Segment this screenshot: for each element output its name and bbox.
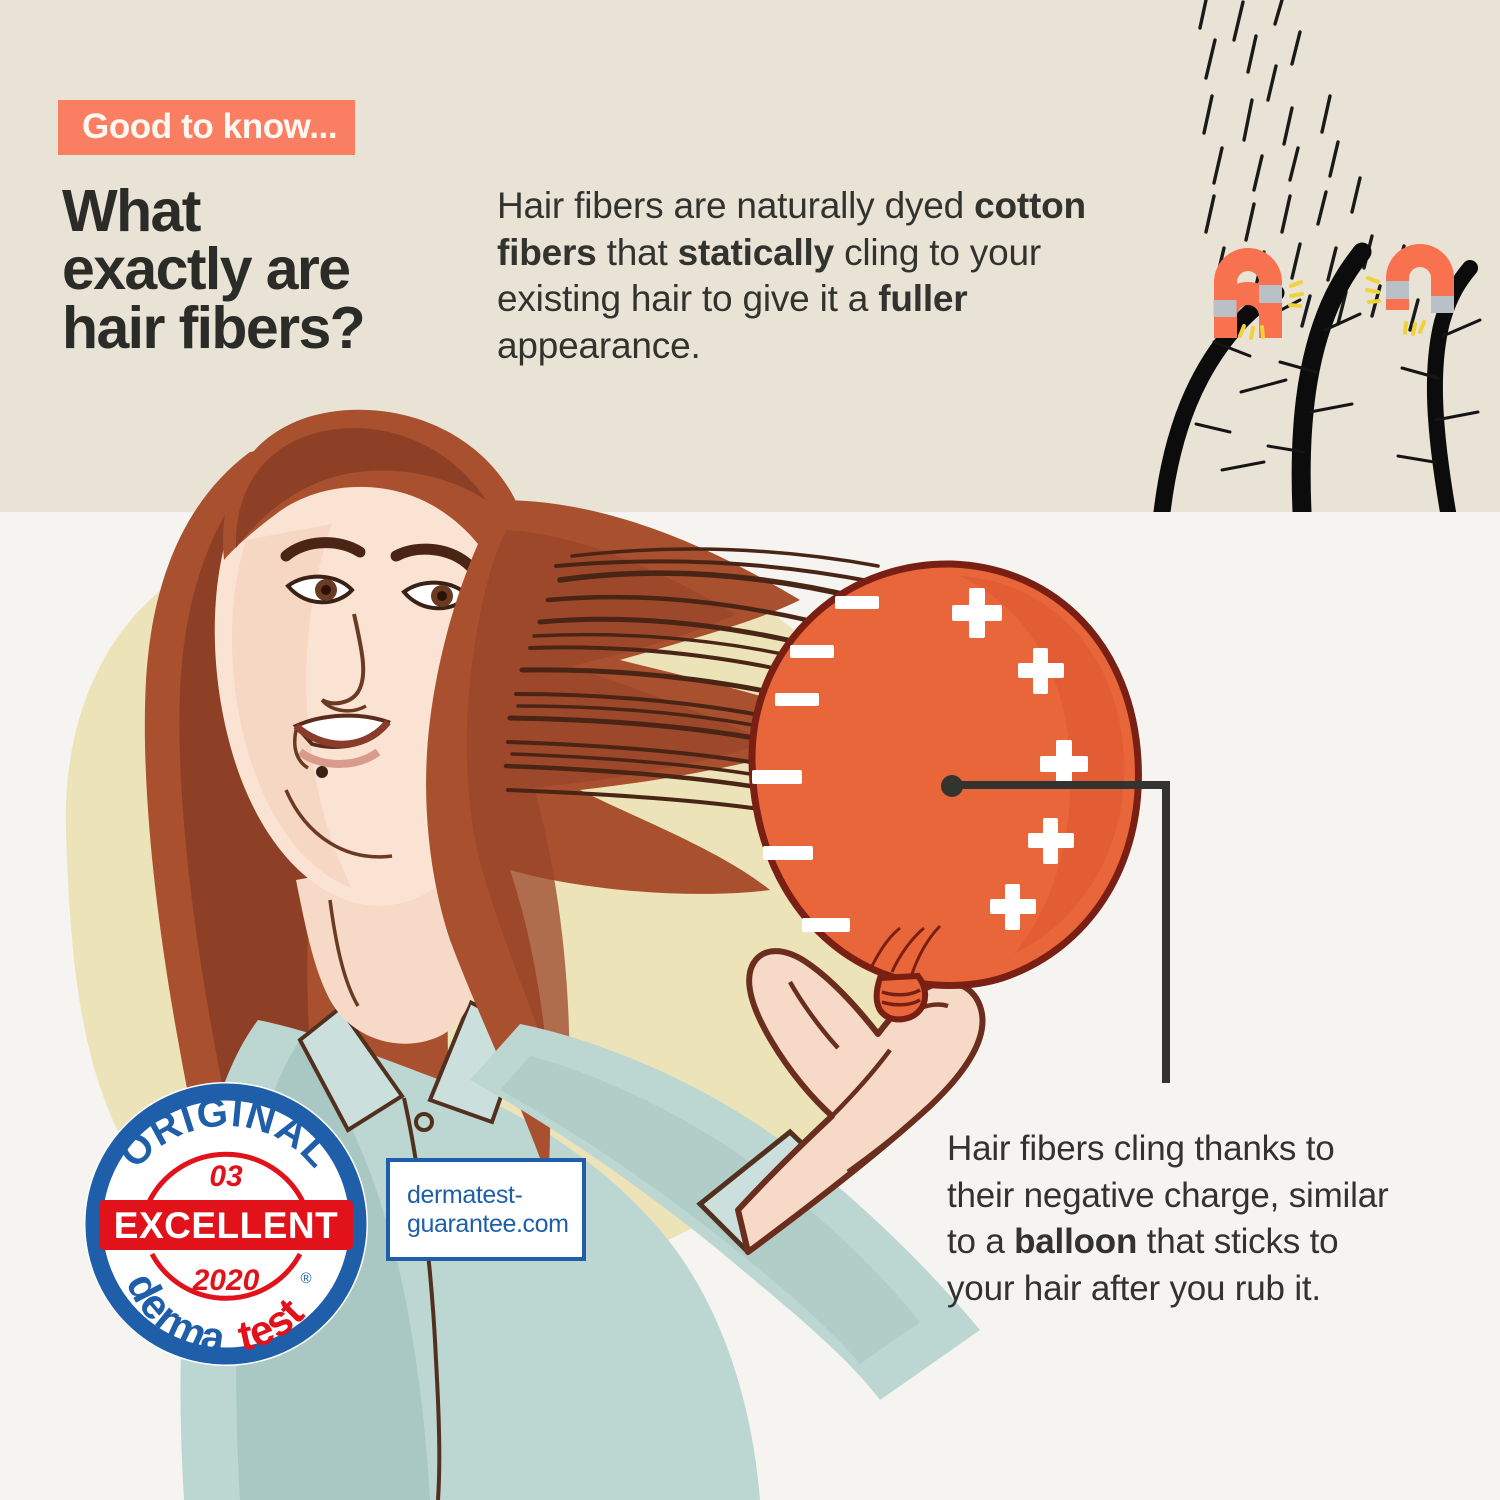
emphasis-text: fuller [878,278,967,319]
emphasis-text: statically [678,232,834,273]
headline-line-2: exactly are [62,240,492,298]
seal-rating: EXCELLENT [114,1205,338,1246]
leader-line-vertical [1162,781,1170,1083]
dermatest-url-line-1: dermatest- [407,1181,522,1209]
callout-paragraph: Hair fibers cling thanks to their negati… [947,1126,1407,1312]
body-text: appearance. [497,325,701,366]
seal-number: 03 [209,1160,243,1193]
body-text: that [597,232,678,273]
seal-registered-mark: ® [300,1270,311,1287]
horseshoe-magnet-left [1214,246,1303,338]
emphasis-text: balloon [1014,1222,1137,1261]
dermatest-url-box[interactable]: dermatest- guarantee.com [386,1158,586,1261]
headline-line-1: What [62,182,492,240]
dermatest-seal[interactable]: ORIGINAL derma test 03 2020 EXCELLENT ® [80,1078,372,1370]
leader-line-horizontal [952,781,1170,789]
magnet-hair-scene [1162,0,1480,512]
infographic-canvas: Good to know... What exactly are hair fi… [0,0,1500,1500]
dermatest-url-line-2: guarantee.com [407,1210,569,1238]
dermatest-url-text: dermatest- guarantee.com [407,1181,569,1239]
seal-year: 2020 [192,1264,260,1297]
page-title: What exactly are hair fibers? [62,182,492,357]
kicker-badge: Good to know... [58,100,355,155]
body-text: Hair fibers are naturally dyed [497,185,974,226]
intro-paragraph: Hair fibers are naturally dyed cotton fi… [497,183,1157,369]
headline-line-3: hair fibers? [62,299,492,357]
